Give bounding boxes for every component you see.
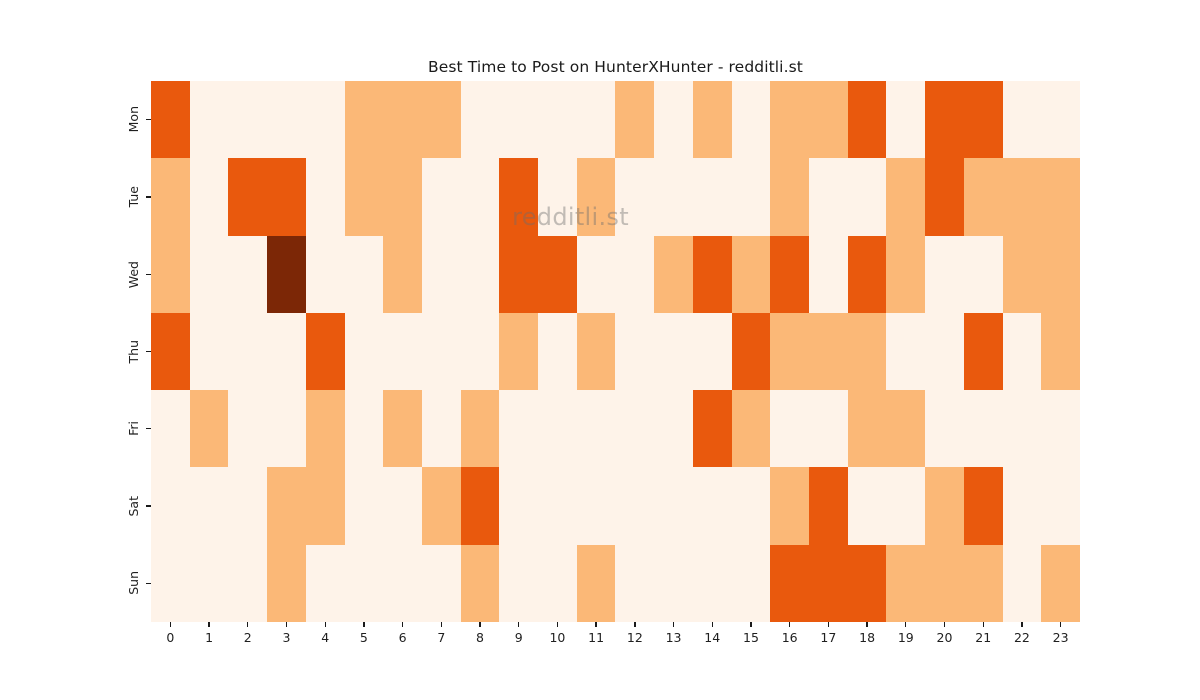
x-tick-19: 19 <box>886 622 925 645</box>
heatmap-cell <box>461 313 500 390</box>
heatmap-cell <box>1041 313 1080 390</box>
heatmap-cell <box>848 313 887 390</box>
y-tick-thu: Thu <box>0 313 151 390</box>
heatmap-cell <box>383 158 422 235</box>
heatmap-cell <box>306 236 345 313</box>
heatmap-cell <box>228 390 267 467</box>
heatmap-cell <box>848 467 887 544</box>
heatmap-cell <box>267 81 306 158</box>
heatmap-cell <box>538 158 577 235</box>
heatmap-cell <box>770 390 809 467</box>
heatmap-cell <box>1003 81 1042 158</box>
heatmap-cell <box>267 545 306 622</box>
heatmap-cell <box>732 158 771 235</box>
heatmap-cell <box>383 236 422 313</box>
heatmap-cell <box>693 390 732 467</box>
x-tick-20: 20 <box>925 622 964 645</box>
heatmap-cell <box>615 158 654 235</box>
heatmap-cell <box>1041 158 1080 235</box>
y-axis: MonTueWedThuFriSatSun <box>0 81 151 622</box>
x-tick-mark <box>557 622 558 627</box>
y-tick-sat: Sat <box>0 467 151 544</box>
y-tick-label: Wed <box>128 261 141 288</box>
heatmap-cell <box>732 545 771 622</box>
heatmap-cell <box>422 81 461 158</box>
x-tick-mark <box>1021 622 1022 627</box>
x-tick-mark <box>595 622 596 627</box>
page-title: Best Time to Post on HunterXHunter - red… <box>151 58 1080 76</box>
heatmap-cell <box>577 390 616 467</box>
heatmap-cell <box>267 158 306 235</box>
y-tick-fri: Fri <box>0 390 151 467</box>
x-tick-label: 10 <box>549 632 565 645</box>
x-tick-label: 20 <box>937 632 953 645</box>
heatmap-cell <box>461 158 500 235</box>
x-tick-22: 22 <box>1003 622 1042 645</box>
heatmap-cell <box>228 236 267 313</box>
x-tick-0: 0 <box>151 622 190 645</box>
heatmap-cell <box>693 545 732 622</box>
heatmap-cell <box>499 545 538 622</box>
y-tick-label: Mon <box>128 106 141 132</box>
x-tick-17: 17 <box>809 622 848 645</box>
heatmap-cell <box>422 236 461 313</box>
heatmap-cell <box>345 313 384 390</box>
heatmap-cell <box>964 158 1003 235</box>
heatmap-cell <box>1041 467 1080 544</box>
heatmap-cell <box>809 390 848 467</box>
heatmap-cell <box>615 313 654 390</box>
x-tick-mark <box>479 622 480 627</box>
y-tick-wed: Wed <box>0 236 151 313</box>
heatmap-grid <box>151 81 1080 622</box>
heatmap-cell <box>809 236 848 313</box>
x-tick-mark <box>363 622 364 627</box>
x-tick-label: 16 <box>782 632 798 645</box>
x-tick-23: 23 <box>1041 622 1080 645</box>
heatmap-cell <box>461 236 500 313</box>
heatmap-cell <box>964 236 1003 313</box>
heatmap-cell <box>925 545 964 622</box>
heatmap-cell <box>267 236 306 313</box>
heatmap-cell <box>615 390 654 467</box>
x-tick-mark <box>1060 622 1061 627</box>
heatmap-cell <box>925 467 964 544</box>
heatmap-cell <box>577 81 616 158</box>
x-tick-mark <box>208 622 209 627</box>
y-tick-label: Sat <box>128 496 141 517</box>
x-tick-mark <box>789 622 790 627</box>
heatmap-cell <box>925 390 964 467</box>
heatmap-cell <box>964 545 1003 622</box>
x-tick-label: 21 <box>975 632 991 645</box>
heatmap-cell <box>1003 158 1042 235</box>
y-tick-label: Sun <box>128 571 141 595</box>
x-tick-label: 4 <box>321 632 329 645</box>
x-tick-label: 2 <box>244 632 252 645</box>
heatmap-cell <box>1003 467 1042 544</box>
heatmap-cell <box>190 390 229 467</box>
heatmap-cell <box>848 236 887 313</box>
heatmap-cell <box>383 545 422 622</box>
heatmap-cell <box>577 545 616 622</box>
heatmap-cell <box>267 467 306 544</box>
heatmap-cell <box>809 545 848 622</box>
heatmap-cell <box>654 81 693 158</box>
heatmap-cell <box>538 390 577 467</box>
heatmap-cell <box>190 467 229 544</box>
x-tick-mark <box>673 622 674 627</box>
x-tick-label: 8 <box>476 632 484 645</box>
heatmap-cell <box>654 158 693 235</box>
heatmap-cell <box>422 545 461 622</box>
x-tick-label: 13 <box>666 632 682 645</box>
heatmap-cell <box>1003 390 1042 467</box>
x-tick-label: 15 <box>743 632 759 645</box>
heatmap-cell <box>345 545 384 622</box>
heatmap-cell <box>1041 390 1080 467</box>
x-tick-18: 18 <box>848 622 887 645</box>
heatmap-cell <box>151 313 190 390</box>
x-tick-4: 4 <box>306 622 345 645</box>
heatmap-cell <box>848 390 887 467</box>
x-tick-label: 18 <box>859 632 875 645</box>
heatmap-cell <box>925 313 964 390</box>
x-tick-8: 8 <box>461 622 500 645</box>
heatmap-cell <box>964 313 1003 390</box>
heatmap-cell <box>732 81 771 158</box>
heatmap-cell <box>151 390 190 467</box>
heatmap-cell <box>461 390 500 467</box>
heatmap-cell <box>886 313 925 390</box>
heatmap-cell <box>383 390 422 467</box>
heatmap-cell <box>925 81 964 158</box>
x-tick-3: 3 <box>267 622 306 645</box>
heatmap-cell <box>732 313 771 390</box>
heatmap-cell <box>151 545 190 622</box>
x-tick-12: 12 <box>616 622 655 645</box>
y-tick-tue: Tue <box>0 158 151 235</box>
x-tick-21: 21 <box>964 622 1003 645</box>
heatmap-cell <box>306 467 345 544</box>
x-tick-16: 16 <box>770 622 809 645</box>
heatmap-cell <box>615 467 654 544</box>
heatmap-cell <box>964 467 1003 544</box>
x-tick-label: 6 <box>399 632 407 645</box>
x-tick-mark <box>518 622 519 627</box>
heatmap-cell <box>770 313 809 390</box>
heatmap-cell <box>151 467 190 544</box>
heatmap-cell <box>306 158 345 235</box>
x-tick-11: 11 <box>577 622 616 645</box>
heatmap-cell <box>422 158 461 235</box>
heatmap-figure: Best Time to Post on HunterXHunter - red… <box>0 0 1200 700</box>
x-tick-label: 0 <box>166 632 174 645</box>
heatmap-cell <box>190 236 229 313</box>
heatmap-cell <box>886 545 925 622</box>
x-tick-label: 12 <box>627 632 643 645</box>
heatmap-cell <box>886 390 925 467</box>
heatmap-cell <box>693 81 732 158</box>
heatmap-cell <box>848 545 887 622</box>
heatmap-cell <box>499 236 538 313</box>
x-tick-2: 2 <box>228 622 267 645</box>
heatmap-cell <box>886 236 925 313</box>
heatmap-cell <box>925 158 964 235</box>
x-tick-label: 23 <box>1053 632 1069 645</box>
heatmap-cell <box>809 467 848 544</box>
heatmap-cell <box>654 313 693 390</box>
heatmap-cell <box>151 81 190 158</box>
x-tick-6: 6 <box>383 622 422 645</box>
heatmap-cell <box>1003 313 1042 390</box>
heatmap-cell <box>538 545 577 622</box>
heatmap-cell <box>499 467 538 544</box>
heatmap-cell <box>538 81 577 158</box>
heatmap-cell <box>538 236 577 313</box>
heatmap-cell <box>306 390 345 467</box>
x-tick-mark <box>866 622 867 627</box>
heatmap-cell <box>422 313 461 390</box>
heatmap-cell <box>770 467 809 544</box>
y-tick-label: Thu <box>128 340 141 363</box>
x-tick-label: 7 <box>437 632 445 645</box>
heatmap-cell <box>809 313 848 390</box>
heatmap-cell <box>306 545 345 622</box>
x-tick-7: 7 <box>422 622 461 645</box>
heatmap-cell <box>190 313 229 390</box>
heatmap-cell <box>461 545 500 622</box>
heatmap-cell <box>770 545 809 622</box>
heatmap-cell <box>615 236 654 313</box>
x-tick-mark <box>750 622 751 627</box>
heatmap-cell <box>383 81 422 158</box>
x-tick-label: 19 <box>898 632 914 645</box>
heatmap-cell <box>848 81 887 158</box>
x-tick-13: 13 <box>654 622 693 645</box>
heatmap-cell <box>461 467 500 544</box>
heatmap-cell <box>886 158 925 235</box>
heatmap-cell <box>654 545 693 622</box>
heatmap-cell <box>228 467 267 544</box>
x-tick-label: 1 <box>205 632 213 645</box>
y-tick-mon: Mon <box>0 81 151 158</box>
heatmap-cell <box>345 390 384 467</box>
heatmap-cell <box>228 545 267 622</box>
heatmap-cell <box>693 467 732 544</box>
heatmap-cell <box>577 467 616 544</box>
heatmap-cell <box>577 158 616 235</box>
x-tick-label: 17 <box>820 632 836 645</box>
heatmap-cell <box>654 236 693 313</box>
y-tick-label: Tue <box>128 186 141 207</box>
x-tick-10: 10 <box>538 622 577 645</box>
heatmap-cell <box>383 313 422 390</box>
heatmap-cell <box>809 158 848 235</box>
heatmap-cell <box>809 81 848 158</box>
x-tick-label: 3 <box>283 632 291 645</box>
x-tick-label: 14 <box>704 632 720 645</box>
heatmap-cell <box>1041 81 1080 158</box>
heatmap-cell <box>577 236 616 313</box>
heatmap-cell <box>732 236 771 313</box>
heatmap-cell <box>732 467 771 544</box>
heatmap-cell <box>345 81 384 158</box>
heatmap-cell <box>1041 236 1080 313</box>
x-tick-mark <box>325 622 326 627</box>
heatmap-cell <box>964 390 1003 467</box>
heatmap-cell <box>345 236 384 313</box>
heatmap-cell <box>693 158 732 235</box>
heatmap-cell <box>267 313 306 390</box>
x-tick-14: 14 <box>693 622 732 645</box>
x-tick-mark <box>402 622 403 627</box>
heatmap-cell <box>1041 545 1080 622</box>
heatmap-cell <box>886 81 925 158</box>
heatmap-cell <box>228 158 267 235</box>
x-tick-label: 22 <box>1014 632 1030 645</box>
heatmap-cell <box>964 81 1003 158</box>
heatmap-cell <box>383 467 422 544</box>
heatmap-cell <box>770 81 809 158</box>
heatmap-cell <box>770 236 809 313</box>
y-tick-sun: Sun <box>0 545 151 622</box>
heatmap-cell <box>499 313 538 390</box>
heatmap-cell <box>577 313 616 390</box>
x-tick-mark <box>944 622 945 627</box>
heatmap-cell <box>422 390 461 467</box>
heatmap-cell <box>190 81 229 158</box>
heatmap-cell <box>190 545 229 622</box>
heatmap-cell <box>345 158 384 235</box>
heatmap-cell <box>345 467 384 544</box>
x-tick-9: 9 <box>499 622 538 645</box>
heatmap-cell <box>615 545 654 622</box>
heatmap-cell <box>693 313 732 390</box>
heatmap-cell <box>848 158 887 235</box>
heatmap-cell <box>770 158 809 235</box>
heatmap-cell <box>422 467 461 544</box>
heatmap-cell <box>925 236 964 313</box>
x-tick-mark <box>441 622 442 627</box>
heatmap-cell <box>151 236 190 313</box>
x-tick-mark <box>905 622 906 627</box>
x-tick-5: 5 <box>345 622 384 645</box>
heatmap-cell <box>538 313 577 390</box>
x-tick-label: 9 <box>515 632 523 645</box>
heatmap-cell <box>654 390 693 467</box>
heatmap-cell <box>538 467 577 544</box>
heatmap-cell <box>732 390 771 467</box>
heatmap-cell <box>306 313 345 390</box>
heatmap-cell <box>190 158 229 235</box>
x-tick-mark <box>712 622 713 627</box>
x-tick-mark <box>247 622 248 627</box>
heatmap-cell <box>499 390 538 467</box>
x-tick-mark <box>634 622 635 627</box>
heatmap-cell <box>1003 236 1042 313</box>
plot-area: redditli.st <box>151 81 1080 622</box>
heatmap-cell <box>306 81 345 158</box>
x-tick-mark <box>983 622 984 627</box>
x-tick-mark <box>286 622 287 627</box>
x-tick-1: 1 <box>190 622 229 645</box>
heatmap-cell <box>228 313 267 390</box>
heatmap-cell <box>499 81 538 158</box>
x-tick-mark <box>828 622 829 627</box>
heatmap-cell <box>228 81 267 158</box>
heatmap-cell <box>461 81 500 158</box>
heatmap-cell <box>886 467 925 544</box>
x-tick-mark <box>170 622 171 627</box>
heatmap-cell <box>151 158 190 235</box>
y-tick-label: Fri <box>128 421 141 436</box>
x-tick-15: 15 <box>732 622 771 645</box>
heatmap-cell <box>615 81 654 158</box>
x-tick-label: 5 <box>360 632 368 645</box>
heatmap-cell <box>654 467 693 544</box>
x-tick-label: 11 <box>588 632 604 645</box>
x-axis: 01234567891011121314151617181920212223 <box>151 622 1080 662</box>
heatmap-cell <box>1003 545 1042 622</box>
heatmap-cell <box>267 390 306 467</box>
heatmap-cell <box>693 236 732 313</box>
heatmap-cell <box>499 158 538 235</box>
